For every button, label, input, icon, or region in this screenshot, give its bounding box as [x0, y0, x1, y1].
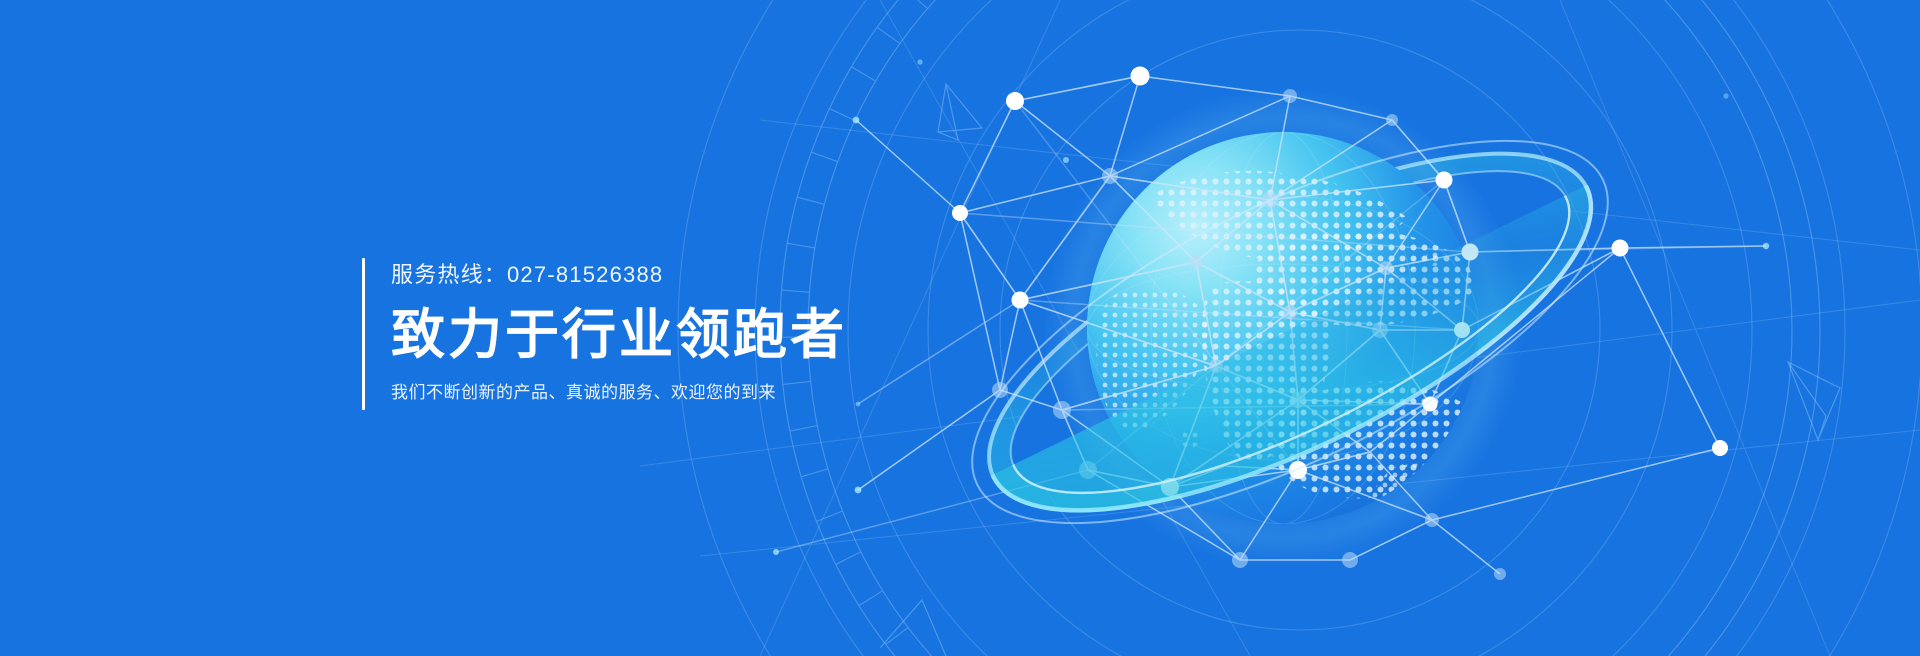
network-nodes-dim: [992, 89, 1506, 580]
orbit-ring-front: [943, 83, 1638, 581]
background-decoration: [0, 0, 1920, 656]
globe-graticule: [1087, 132, 1479, 524]
hero-text-column: 服务热线：027-81526388 致力于行业领跑者 我们不断创新的产品、真诚的…: [365, 258, 847, 410]
hero-banner: 服务热线：027-81526388 致力于行业领跑者 我们不断创新的产品、真诚的…: [0, 0, 1920, 656]
service-hotline: 服务热线：027-81526388: [391, 264, 847, 286]
globe: [1087, 132, 1496, 545]
radial-grid-arcs: [678, 0, 1920, 656]
tick-gauge-arc: [780, 0, 1820, 656]
wireframe-triangles: [880, 84, 1840, 656]
scatter-dots: [773, 59, 1769, 555]
page-subtitle: 我们不断创新的产品、真诚的服务、欢迎您的到来: [391, 384, 847, 401]
network-nodes: [952, 67, 1728, 497]
network-links: [776, 76, 1766, 574]
orbit-ring-rail: [921, 64, 1659, 599]
continent-dots: [1096, 171, 1496, 545]
hero-text-block: 服务热线：027-81526388 致力于行业领跑者 我们不断创新的产品、真诚的…: [362, 258, 847, 410]
orbit-ring-back: [943, 83, 1638, 581]
page-title: 致力于行业领跑者: [391, 308, 847, 362]
globe-glow: [1043, 88, 1523, 568]
